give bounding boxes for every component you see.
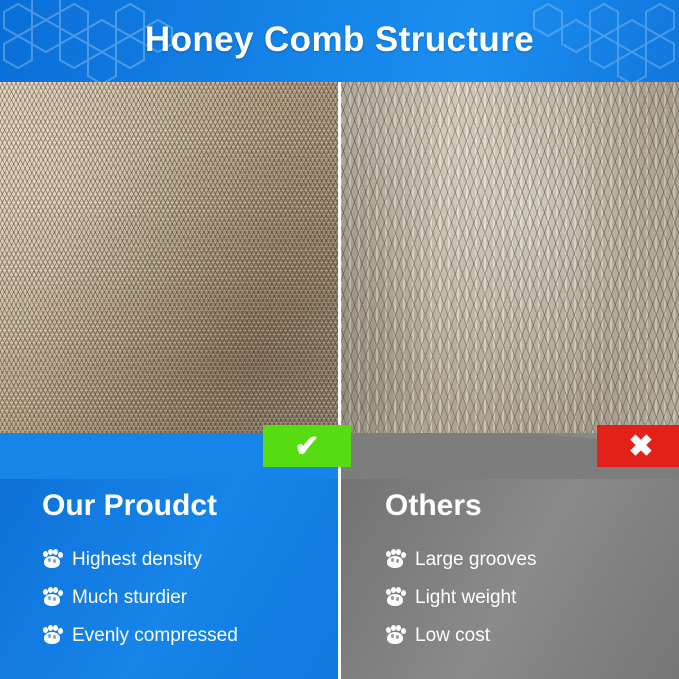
- paw-print-icon: [385, 626, 405, 646]
- others-feature-list: Large grooves Light weight Low cost: [385, 541, 536, 655]
- comparison-photos: [0, 82, 679, 475]
- list-item: Much sturdier: [42, 579, 238, 617]
- our-product-title: Our Proudct: [42, 489, 217, 523]
- paw-print-icon: [385, 588, 405, 608]
- list-item-label: Large grooves: [415, 549, 536, 571]
- list-item: Highest density: [42, 541, 238, 579]
- poster-header: Honey Comb Structure: [0, 0, 679, 82]
- list-item: Light weight: [385, 579, 536, 617]
- paw-print-icon: [42, 626, 62, 646]
- list-item-label: Highest density: [72, 549, 202, 571]
- photo-divider: [338, 82, 341, 475]
- photo-shading-left: [0, 82, 338, 475]
- others-title: Others: [385, 489, 482, 523]
- list-item: Evenly compressed: [42, 617, 238, 655]
- check-badge: ✔: [263, 425, 351, 467]
- paw-print-icon: [42, 550, 62, 570]
- paw-print-icon: [42, 588, 62, 608]
- list-item-label: Low cost: [415, 625, 490, 647]
- our-product-feature-list: Highest density Much sturdier Evenly com…: [42, 541, 238, 655]
- list-item-label: Evenly compressed: [72, 625, 238, 647]
- our-product-panel: Our Proudct Highest density Much sturdie…: [0, 433, 338, 679]
- product-comparison-poster: Honey Comb Structure Our Proudct Highest…: [0, 0, 679, 679]
- check-mark-icon: ✔: [263, 425, 351, 467]
- list-item: Low cost: [385, 617, 536, 655]
- list-item-label: Much sturdier: [72, 587, 187, 609]
- photo-shading-right: [341, 82, 679, 475]
- list-item: Large grooves: [385, 541, 536, 579]
- others-panel: Others Large grooves Light weight: [341, 433, 679, 679]
- cross-mark-icon: ✖: [597, 425, 679, 467]
- others-photo: [341, 82, 679, 475]
- page-title: Honey Comb Structure: [0, 0, 679, 82]
- list-item-label: Light weight: [415, 587, 516, 609]
- our-product-photo: [0, 82, 338, 475]
- cross-badge: ✖: [597, 425, 679, 467]
- paw-print-icon: [385, 550, 405, 570]
